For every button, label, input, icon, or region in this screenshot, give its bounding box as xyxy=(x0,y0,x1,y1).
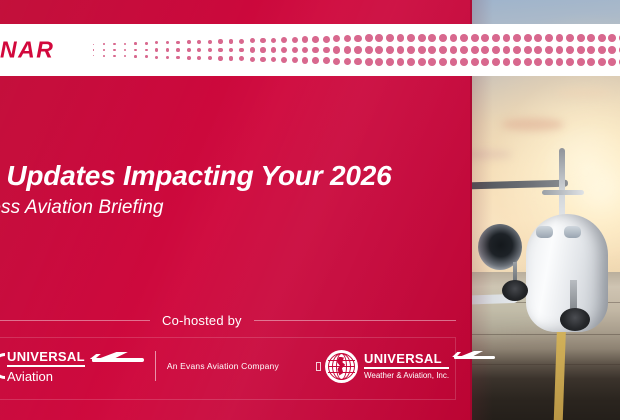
dot xyxy=(292,37,298,43)
dot xyxy=(93,44,95,46)
dot xyxy=(145,49,148,52)
logo-right-name: UNIVERSAL xyxy=(364,352,449,369)
dot xyxy=(229,48,234,53)
dot-column xyxy=(385,33,396,67)
logo-right-sub: Weather & Aviation, Inc. xyxy=(364,372,449,380)
dot xyxy=(239,39,244,44)
dot-column xyxy=(99,33,110,67)
dot xyxy=(155,56,158,59)
dot xyxy=(333,46,340,53)
dot-column xyxy=(205,33,216,67)
co-hosted-by-label: Co-hosted by xyxy=(162,313,242,328)
dot xyxy=(302,36,308,42)
dot xyxy=(503,46,511,54)
dot xyxy=(598,58,606,66)
dot xyxy=(208,48,212,52)
dot xyxy=(407,34,415,42)
dot xyxy=(176,56,180,60)
dot-column xyxy=(607,33,618,67)
dot-column xyxy=(501,33,512,67)
dot xyxy=(608,46,616,54)
dot xyxy=(271,57,277,63)
dot-column xyxy=(289,33,300,67)
dot xyxy=(439,46,447,54)
headline-block: e Ops Updates Impacting Your 2026 al Bus… xyxy=(0,160,482,219)
dot xyxy=(250,38,255,43)
dot xyxy=(271,38,277,44)
dot-column xyxy=(565,33,576,67)
dot-column xyxy=(438,33,449,67)
dot xyxy=(492,58,500,66)
dot-column xyxy=(512,33,523,67)
dot xyxy=(587,34,595,42)
dot-column xyxy=(173,33,184,67)
dot xyxy=(292,47,298,53)
airplane-silhouette-icon xyxy=(88,351,144,367)
dot xyxy=(176,48,180,52)
dot xyxy=(545,58,553,66)
dot-column xyxy=(236,33,247,67)
dot xyxy=(577,34,585,42)
dot xyxy=(598,46,606,54)
dot xyxy=(503,58,511,66)
dot xyxy=(566,46,574,54)
dot xyxy=(271,47,277,53)
dot-column xyxy=(575,33,586,67)
dot xyxy=(471,58,479,66)
dot-column xyxy=(353,33,364,67)
dot xyxy=(302,57,308,63)
dot xyxy=(187,48,191,52)
dot xyxy=(166,56,169,59)
dot xyxy=(450,34,458,42)
dot xyxy=(302,47,308,53)
dot xyxy=(534,46,542,54)
dot xyxy=(450,46,458,54)
page-subtitle: al Business Aviation Briefing xyxy=(0,197,482,219)
dot-column xyxy=(258,33,269,67)
dot xyxy=(124,49,126,51)
divider-line-left xyxy=(0,320,150,321)
dot xyxy=(397,58,405,66)
webinar-promo-slide: BINAR e Ops Updates Impacting Your 2026 … xyxy=(0,0,620,420)
dot xyxy=(229,56,234,61)
dot-column xyxy=(300,33,311,67)
dot xyxy=(481,34,489,42)
dot xyxy=(428,46,436,54)
dot xyxy=(103,55,105,57)
dot-column xyxy=(597,33,608,67)
dot xyxy=(155,48,158,51)
dot xyxy=(323,47,330,54)
dot xyxy=(312,57,319,64)
dot xyxy=(524,58,532,66)
dot-column xyxy=(310,33,321,67)
dot-column xyxy=(554,33,565,67)
dot xyxy=(566,34,574,42)
dot-column xyxy=(491,33,502,67)
dot xyxy=(354,35,362,43)
dot xyxy=(386,58,394,66)
dot xyxy=(428,34,436,42)
dot xyxy=(281,57,287,63)
dot xyxy=(218,39,222,43)
logo-divider xyxy=(155,351,156,381)
evans-aviation-tagline: An Evans Aviation Company xyxy=(167,361,279,371)
dot xyxy=(281,47,287,53)
dot xyxy=(103,49,105,51)
dot-column xyxy=(374,33,385,67)
dot xyxy=(344,58,351,65)
dot xyxy=(260,47,265,52)
dot xyxy=(239,56,244,61)
dot-column xyxy=(109,33,120,67)
dot xyxy=(397,46,405,54)
dot xyxy=(513,58,521,66)
dot xyxy=(524,46,532,54)
dot xyxy=(365,34,373,42)
dot-column xyxy=(183,33,194,67)
dot-column xyxy=(459,33,470,67)
dot xyxy=(134,55,137,58)
dot-column xyxy=(416,33,427,67)
dot xyxy=(218,48,222,52)
dot xyxy=(145,42,148,45)
dot xyxy=(608,58,616,66)
dot xyxy=(460,34,468,42)
dot-column xyxy=(247,33,258,67)
dot xyxy=(534,58,542,66)
dot xyxy=(312,47,319,54)
dot-column xyxy=(533,33,544,67)
dot xyxy=(134,49,137,52)
dot xyxy=(386,46,394,54)
dot-column xyxy=(226,33,237,67)
dot xyxy=(471,34,479,42)
dot xyxy=(103,43,105,45)
halftone-dot-gradient xyxy=(88,24,620,76)
universal-u-mark-icon xyxy=(0,353,5,379)
dot xyxy=(145,55,148,58)
dot xyxy=(292,57,298,63)
dot xyxy=(93,55,95,57)
webinar-banner-band: BINAR xyxy=(0,24,620,76)
dot xyxy=(93,49,95,51)
dot xyxy=(534,34,542,42)
dot xyxy=(187,56,191,60)
dot xyxy=(375,58,383,66)
dot xyxy=(545,34,553,42)
dot-column xyxy=(141,33,152,67)
dot xyxy=(134,42,137,45)
dot xyxy=(124,55,126,57)
dot xyxy=(250,57,255,62)
dot xyxy=(577,46,585,54)
dot-column xyxy=(120,33,131,67)
dot xyxy=(460,46,468,54)
webinar-label: BINAR xyxy=(0,37,54,64)
dot xyxy=(218,56,222,60)
dot xyxy=(187,40,191,44)
dot xyxy=(250,47,255,52)
dot xyxy=(587,58,595,66)
dot-column xyxy=(194,33,205,67)
dot-column xyxy=(522,33,533,67)
dot xyxy=(176,41,180,45)
dot xyxy=(375,46,383,54)
dot xyxy=(545,46,553,54)
page-title: e Ops Updates Impacting Your 2026 xyxy=(0,160,482,191)
dot xyxy=(524,34,532,42)
dot-column xyxy=(406,33,417,67)
dot xyxy=(208,56,212,60)
dot-column xyxy=(130,33,141,67)
dot-column xyxy=(321,33,332,67)
dot xyxy=(197,40,201,44)
dot xyxy=(312,36,319,43)
dot-column xyxy=(152,33,163,67)
dot xyxy=(323,36,330,43)
dot xyxy=(503,34,511,42)
dot xyxy=(113,55,115,57)
logo-left-name: UNIVERSAL xyxy=(7,350,85,367)
dot xyxy=(260,38,265,43)
co-hosted-by-row: Co-hosted by xyxy=(0,313,456,328)
dot-column xyxy=(332,33,343,67)
dot xyxy=(386,34,394,42)
registered-mark-icon xyxy=(316,362,321,371)
dot-column xyxy=(268,33,279,67)
dot xyxy=(407,58,415,66)
dot xyxy=(450,58,458,66)
dot xyxy=(407,46,415,54)
globe-meridian-emblem-icon xyxy=(325,350,358,383)
dot xyxy=(365,58,373,66)
dot-column xyxy=(215,33,226,67)
dot xyxy=(513,34,521,42)
dot-column xyxy=(395,33,406,67)
dot xyxy=(323,57,330,64)
dot xyxy=(492,46,500,54)
dot xyxy=(418,58,426,66)
dot-column xyxy=(427,33,438,67)
dot-column xyxy=(279,33,290,67)
dot-column xyxy=(448,33,459,67)
dot xyxy=(556,34,564,42)
dot xyxy=(333,35,340,42)
dot xyxy=(418,46,426,54)
dot xyxy=(428,58,436,66)
dot xyxy=(281,37,287,43)
dot xyxy=(556,46,564,54)
dot-column xyxy=(162,33,173,67)
dot-column xyxy=(480,33,491,67)
dot-column xyxy=(363,33,374,67)
dot xyxy=(229,39,234,44)
dot xyxy=(124,43,126,45)
dot xyxy=(375,34,383,42)
dot xyxy=(608,34,616,42)
dot xyxy=(577,58,585,66)
dot xyxy=(333,58,340,65)
dot xyxy=(166,41,169,44)
dot xyxy=(166,48,169,51)
dot xyxy=(598,34,606,42)
dot xyxy=(344,46,351,53)
dot xyxy=(587,46,595,54)
dot xyxy=(439,58,447,66)
dot-column xyxy=(544,33,555,67)
logo-universal-aviation[interactable]: UNIVERSAL Aviation An Evans Aviation Com… xyxy=(0,349,279,383)
dot xyxy=(155,41,158,44)
dot xyxy=(197,48,201,52)
dot xyxy=(418,34,426,42)
dot xyxy=(113,49,115,51)
dot xyxy=(113,43,115,45)
dot-column xyxy=(586,33,597,67)
dot xyxy=(439,34,447,42)
dot xyxy=(354,46,362,54)
dot xyxy=(513,46,521,54)
dot-column xyxy=(469,33,480,67)
dot xyxy=(344,35,351,42)
dot xyxy=(208,40,212,44)
dot xyxy=(197,56,201,60)
dot xyxy=(397,34,405,42)
dot xyxy=(556,58,564,66)
logo-universal-weather-aviation[interactable]: UNIVERSAL Weather & Aviation, Inc. xyxy=(316,348,495,384)
airplane-silhouette-icon xyxy=(451,350,495,364)
dot xyxy=(471,46,479,54)
dot xyxy=(239,48,244,53)
dot xyxy=(365,46,373,54)
divider-line-right xyxy=(254,320,456,321)
dot-column xyxy=(88,33,99,67)
dot-column xyxy=(342,33,353,67)
dot xyxy=(460,58,468,66)
dot xyxy=(566,58,574,66)
dot xyxy=(354,58,362,66)
dot xyxy=(260,57,265,62)
logo-left-sub: Aviation xyxy=(7,370,85,383)
dot xyxy=(492,34,500,42)
dot xyxy=(481,58,489,66)
dot xyxy=(481,46,489,54)
